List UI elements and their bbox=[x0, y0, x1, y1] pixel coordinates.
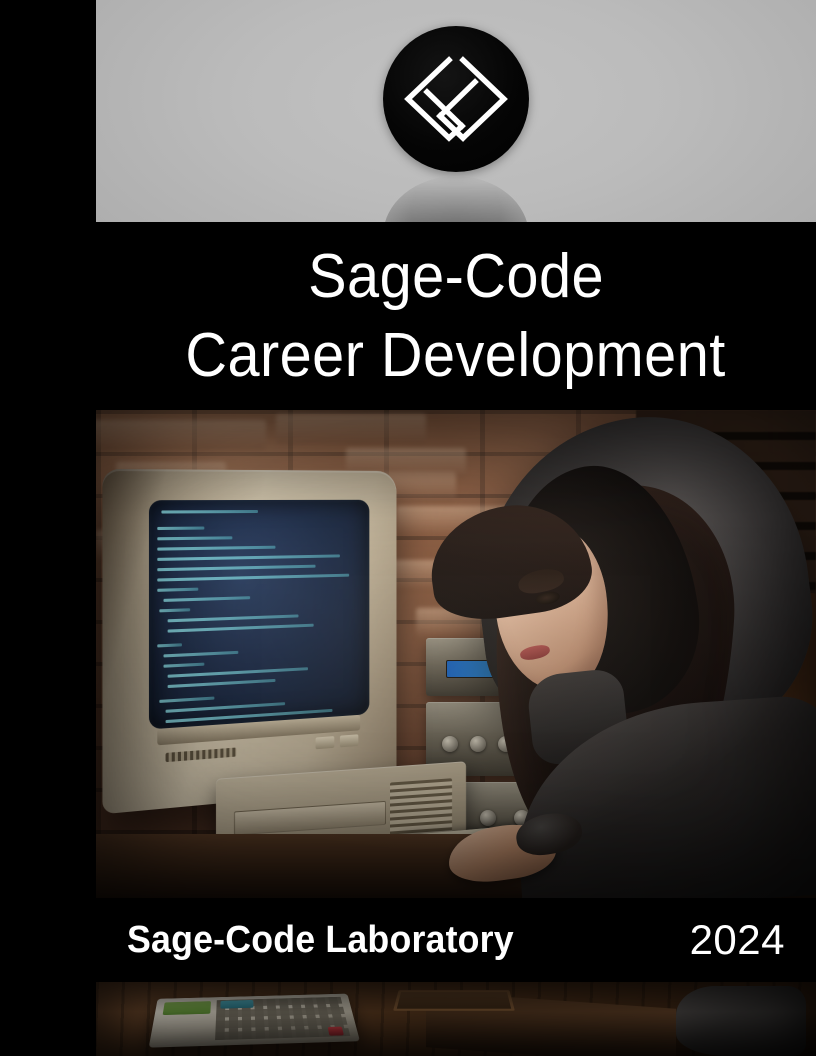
crt-screen bbox=[149, 500, 369, 730]
calculator-display bbox=[163, 1001, 211, 1015]
title-line-1: Sage-Code bbox=[308, 237, 604, 316]
publisher-label: Sage-Code Laboratory bbox=[127, 919, 514, 962]
cover-footer-band: Sage-Code Laboratory 2024 bbox=[96, 898, 816, 982]
strip-scene bbox=[96, 982, 816, 1056]
sage-code-logo-icon bbox=[383, 26, 529, 172]
crt-monitor bbox=[102, 469, 396, 814]
hero-scene bbox=[96, 410, 816, 898]
year-label: 2024 bbox=[690, 916, 785, 964]
floppy-drive-slot bbox=[234, 801, 386, 836]
crt-vent bbox=[166, 748, 237, 763]
logo-wrap bbox=[383, 26, 529, 172]
hero-photo bbox=[96, 410, 816, 898]
title-line-2: Career Development bbox=[186, 316, 726, 395]
page-title: Sage-Code Career Development bbox=[96, 222, 816, 410]
logo-reflection bbox=[383, 176, 529, 222]
hooded-person bbox=[406, 410, 816, 898]
dark-cloth bbox=[676, 986, 806, 1056]
cover-header-band bbox=[96, 0, 816, 222]
bottom-photo-strip bbox=[96, 982, 816, 1056]
crt-button bbox=[340, 734, 358, 747]
crt-button bbox=[316, 736, 335, 749]
picture-frame bbox=[393, 990, 515, 1011]
calculator-key-blue bbox=[220, 1000, 253, 1009]
book-cover: Sage-Code Career Development bbox=[0, 0, 816, 1056]
calculator-key-red bbox=[328, 1027, 344, 1036]
calculator bbox=[149, 994, 360, 1048]
